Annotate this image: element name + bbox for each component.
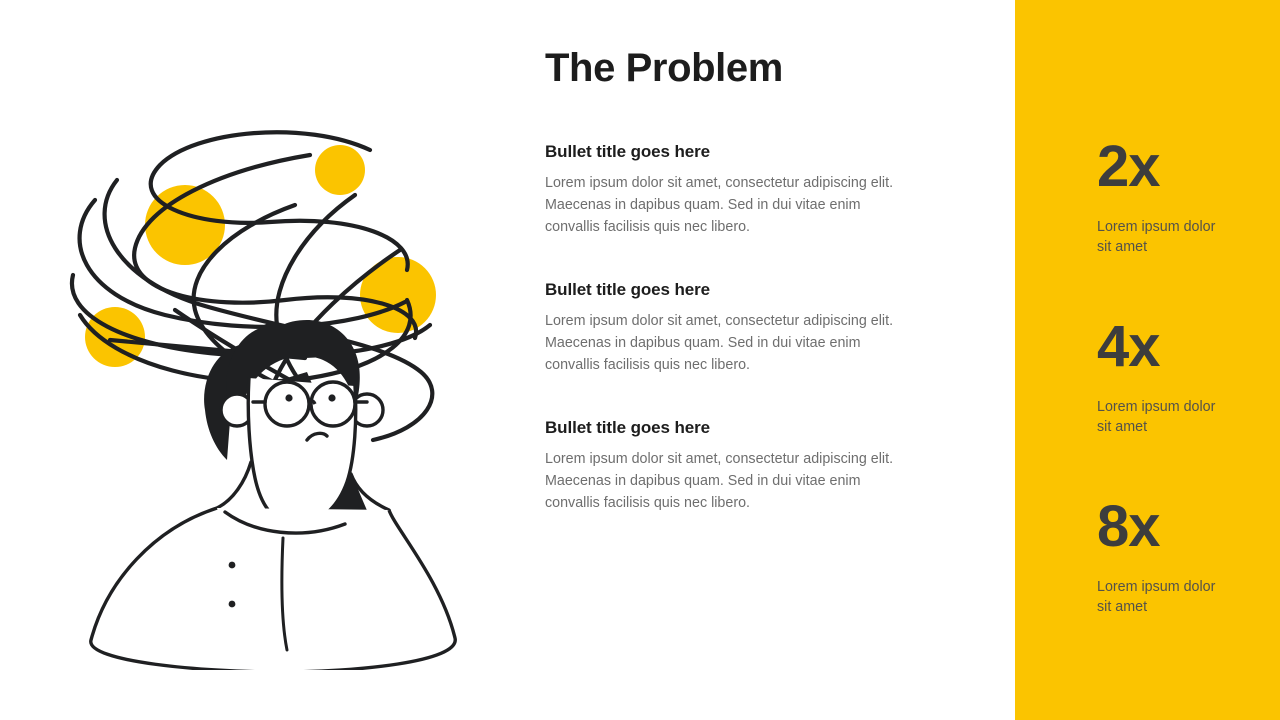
stat-value: 4x <box>1097 318 1267 376</box>
bullet-title: Bullet title goes here <box>545 280 943 300</box>
content-column: The Problem Bullet title goes here Lorem… <box>543 46 943 515</box>
bullet-title: Bullet title goes here <box>545 142 943 162</box>
stats-panel: 2x Lorem ipsum dolor sit amet 4x Lorem i… <box>1015 0 1280 720</box>
stat-item: 4x Lorem ipsum dolor sit amet <box>1097 318 1267 437</box>
slide-canvas: The Problem Bullet title goes here Lorem… <box>0 0 1280 720</box>
illustration-confused-person <box>55 110 475 670</box>
bullet-title: Bullet title goes here <box>545 418 943 438</box>
stat-caption: Lorem ipsum dolor sit amet <box>1097 218 1222 257</box>
bullet-item: Bullet title goes here Lorem ipsum dolor… <box>543 280 943 377</box>
stat-item: 2x Lorem ipsum dolor sit amet <box>1097 138 1267 257</box>
stat-caption: Lorem ipsum dolor sit amet <box>1097 398 1222 437</box>
bullet-body: Lorem ipsum dolor sit amet, consectetur … <box>545 449 903 515</box>
bullet-body: Lorem ipsum dolor sit amet, consectetur … <box>545 173 903 239</box>
stat-value: 2x <box>1097 138 1267 196</box>
stat-caption: Lorem ipsum dolor sit amet <box>1097 578 1222 617</box>
stat-item: 8x Lorem ipsum dolor sit amet <box>1097 498 1267 617</box>
bullet-item: Bullet title goes here Lorem ipsum dolor… <box>543 142 943 239</box>
stat-value: 8x <box>1097 498 1267 556</box>
page-title: The Problem <box>545 46 943 90</box>
bullet-item: Bullet title goes here Lorem ipsum dolor… <box>543 418 943 515</box>
bullet-body: Lorem ipsum dolor sit amet, consectetur … <box>545 311 903 377</box>
